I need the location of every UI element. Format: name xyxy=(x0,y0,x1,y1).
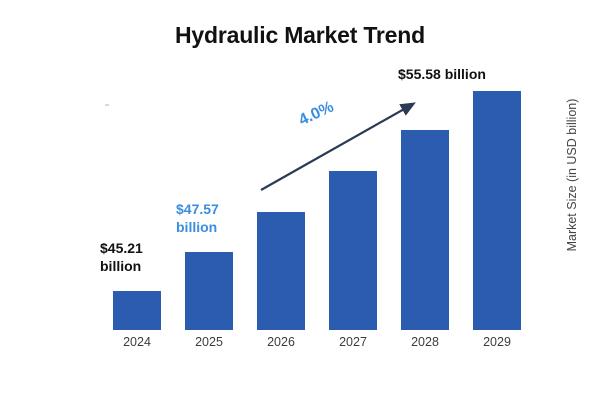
bar-2026 xyxy=(257,212,305,330)
x-tick-label-2029: 2029 xyxy=(462,335,532,349)
data-label-2025-unit: billion xyxy=(176,219,256,237)
x-tick-label-2025: 2025 xyxy=(174,335,244,349)
x-tick-label-2024: 2024 xyxy=(102,335,172,349)
plot-area: 2024 2025 2026 2027 2028 2029 $45.21 bil… xyxy=(0,0,600,400)
data-label-2029: $55.58 billion xyxy=(398,66,558,84)
data-label-2025-value: $47.57 xyxy=(176,201,256,219)
data-label-2025: $47.57 billion xyxy=(176,201,256,236)
x-tick-label-2027: 2027 xyxy=(318,335,388,349)
x-tick-label-2026: 2026 xyxy=(246,335,316,349)
bar-2028 xyxy=(401,130,449,330)
x-tick-label-2028: 2028 xyxy=(390,335,460,349)
data-label-2029-value: $55.58 billion xyxy=(398,66,558,84)
cagr-annotation-label: 4.0% xyxy=(296,98,337,130)
bar-2025 xyxy=(185,252,233,330)
chart-container: Hydraulic Market Trend 2024 2025 2026 20… xyxy=(0,0,600,400)
bar-2024 xyxy=(113,291,161,330)
bar-2029 xyxy=(473,91,521,330)
data-label-2024-unit: billion xyxy=(100,258,180,276)
bar-2027 xyxy=(329,171,377,330)
data-label-2024: $45.21 billion xyxy=(100,240,180,275)
y-axis-title: Market Size (in USD billion) xyxy=(565,90,579,260)
data-label-2024-value: $45.21 xyxy=(100,240,180,258)
